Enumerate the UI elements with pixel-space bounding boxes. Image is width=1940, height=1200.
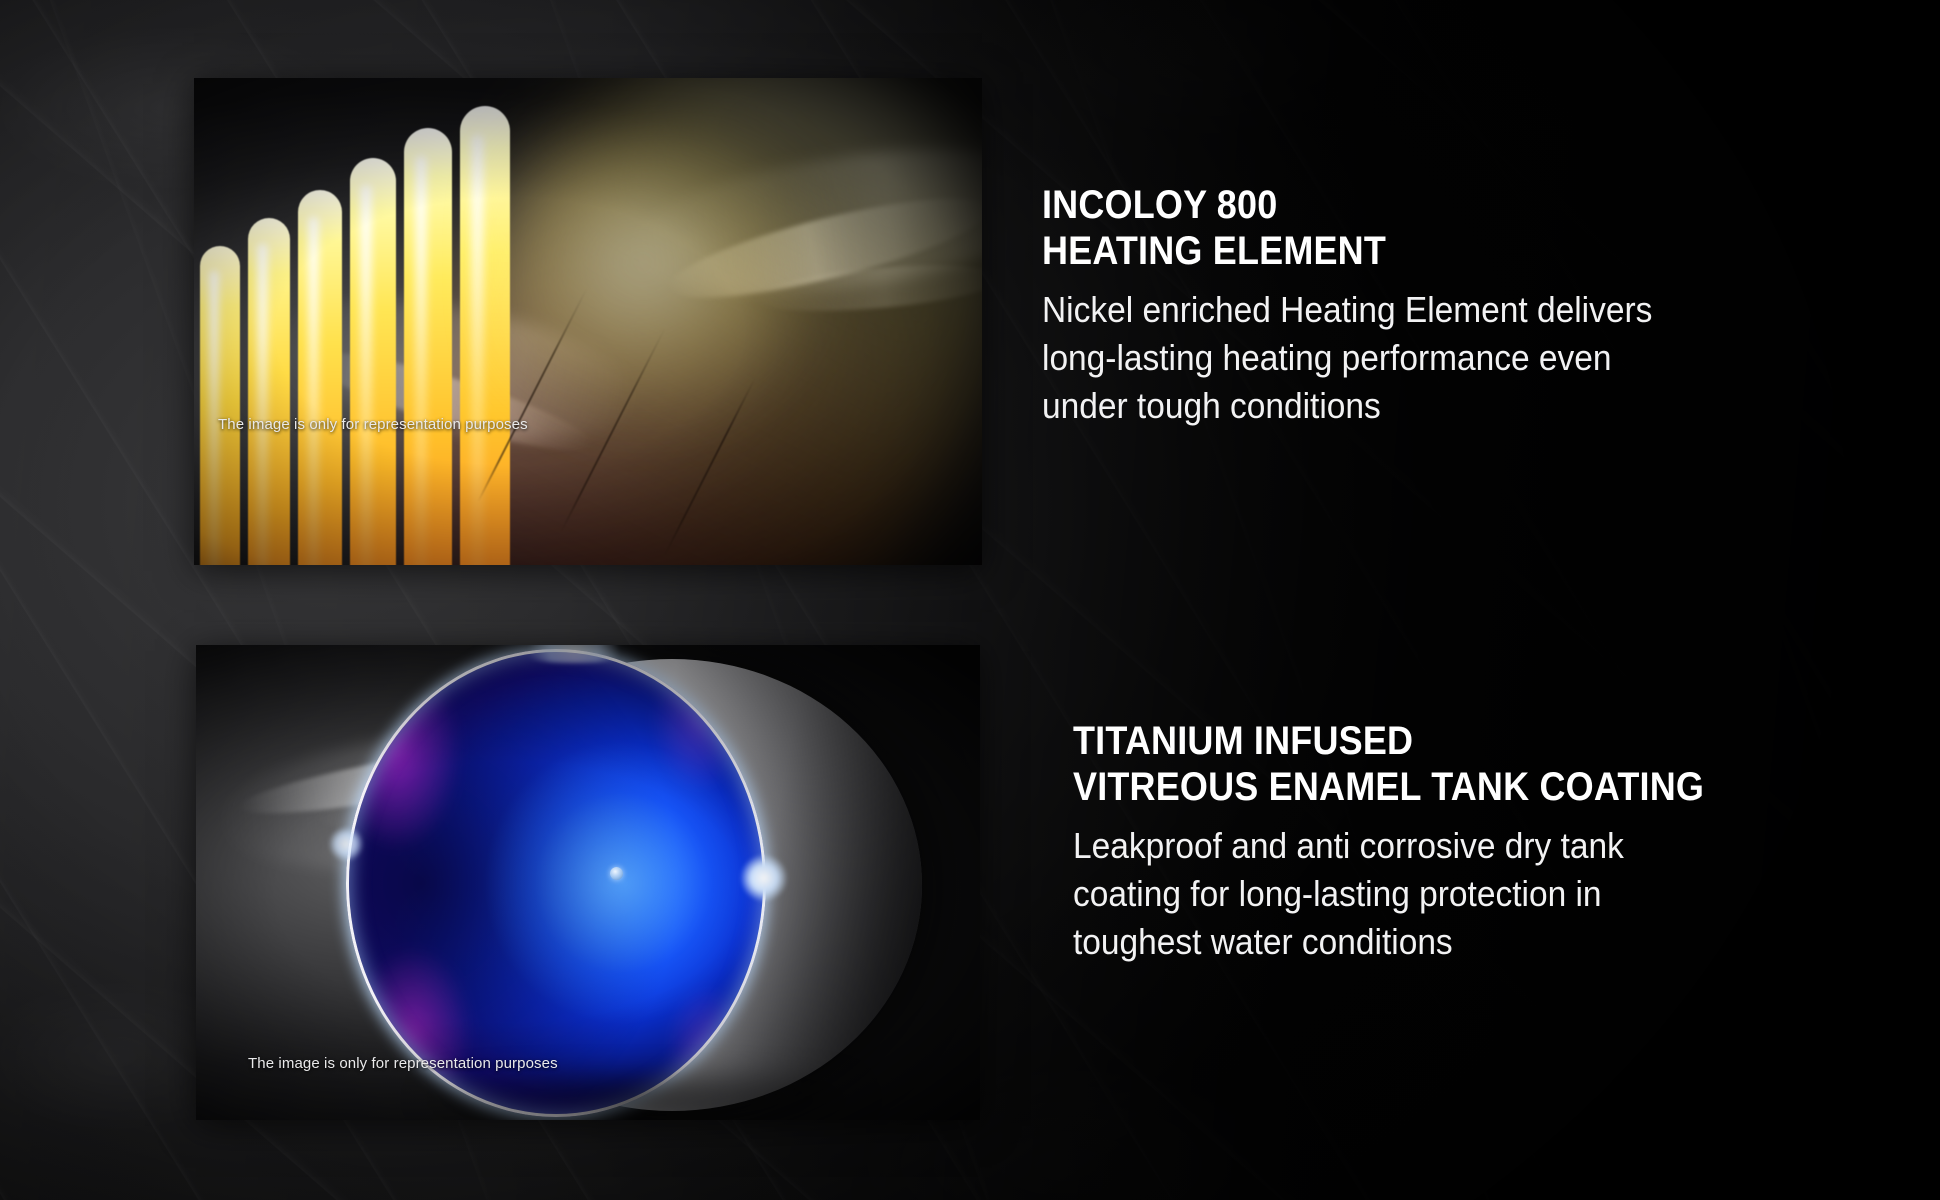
- heating-element-copy: INCOLOY 800 HEATING ELEMENT Nickel enric…: [1042, 182, 1872, 430]
- heating-element-image: The image is only for representation pur…: [194, 78, 982, 565]
- tank-coating-desc-line3: toughest water conditions: [1073, 918, 1845, 966]
- heating-element-vignette: [194, 78, 982, 565]
- tank-coating-title-line2: VITREOUS ENAMEL TANK COATING: [1073, 764, 1820, 810]
- heating-element-desc-line2: long-lasting heating performance even: [1042, 334, 1814, 382]
- heating-element-title-line2: HEATING ELEMENT: [1042, 228, 1789, 274]
- heating-element-desc-line3: under tough conditions: [1042, 382, 1814, 430]
- tank-coating-caption: The image is only for representation pur…: [248, 1055, 558, 1072]
- feature-showcase-page: The image is only for representation pur…: [0, 0, 1940, 1200]
- heating-element-title-line1: INCOLOY 800: [1042, 182, 1789, 228]
- tank-coating-copy: TITANIUM INFUSED VITREOUS ENAMEL TANK CO…: [1073, 718, 1903, 966]
- heating-element-desc-line1: Nickel enriched Heating Element delivers: [1042, 286, 1814, 334]
- tank-coating-vignette: [196, 645, 980, 1120]
- tank-coating-title-line1: TITANIUM INFUSED: [1073, 718, 1820, 764]
- tank-coating-image: The image is only for representation pur…: [196, 645, 980, 1120]
- tank-coating-desc-line2: coating for long-lasting protection in: [1073, 870, 1845, 918]
- tank-coating-description: Leakproof and anti corrosive dry tank co…: [1073, 822, 1903, 966]
- tank-coating-desc-line1: Leakproof and anti corrosive dry tank: [1073, 822, 1845, 870]
- heating-element-description: Nickel enriched Heating Element delivers…: [1042, 286, 1872, 430]
- heating-element-caption: The image is only for representation pur…: [218, 416, 528, 433]
